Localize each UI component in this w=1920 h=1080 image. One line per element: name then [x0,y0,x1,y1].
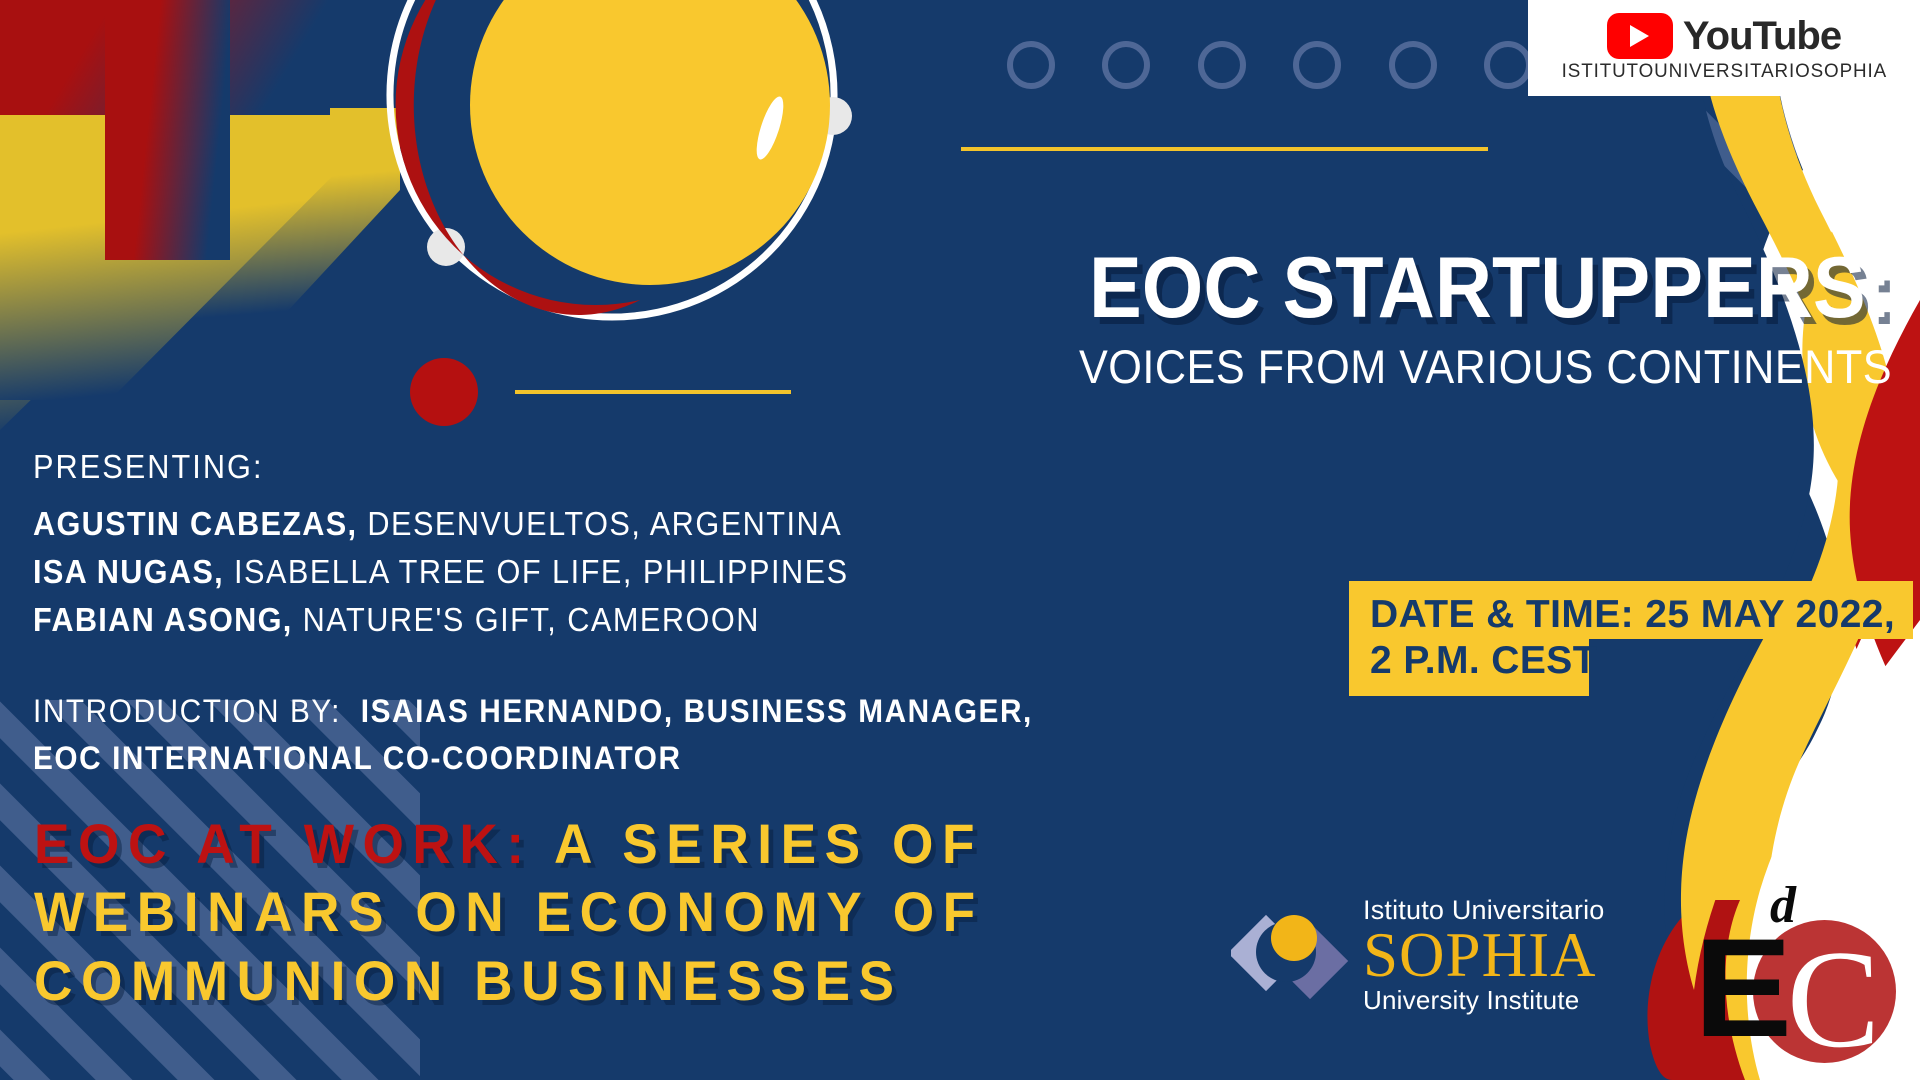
page-title: EOC STARTUPPERS: [917,246,1892,330]
sophia-bottom-text: University Institute [1363,987,1604,1013]
series-line-1-rest: A SERIES OF [554,812,983,875]
speaker-name: AGUSTIN CABEZAS, [33,505,357,542]
date-badge-line-2: 2 P.M. CEST [1349,639,1589,696]
speaker-row: FABIAN ASONG, NATURE'S GIFT, CAMEROON [33,596,1103,644]
edc-letter-c: C [1762,928,1905,1071]
speaker-detail: DESENVUELTOS, ARGENTINA [367,505,842,542]
date-badge-line-1: DATE & TIME: 25 MAY 2022, [1349,581,1913,639]
page-subtitle: VOICES FROM VARIOUS CONTINENTS [917,342,1892,391]
speaker-name: ISA NUGAS, [33,553,224,590]
series-line-3: COMMUNION BUSINESSES [34,947,1127,1015]
youtube-logo-row: YouTube [1607,13,1841,59]
youtube-play-icon [1607,13,1673,59]
youtube-channel-name: ISTITUTOUNIVERSITARIOSOPHIA [1561,61,1886,83]
introduction-line-1: INTRODUCTION BY: ISAIAS HERNANDO, BUSINE… [33,688,1261,735]
decor-red-dot [410,358,478,426]
presenting-block: PRESENTING: AGUSTIN CABEZAS, DESENVUELTO… [33,448,1183,644]
series-line-1: EOC AT WORK: A SERIES OF [34,810,1127,878]
speaker-row: ISA NUGAS, ISABELLA TREE OF LIFE, PHILIP… [33,548,1103,596]
introduction-line-2: EOC INTERNATIONAL CO-COORDINATOR [33,735,1261,782]
introduction-role: EOC INTERNATIONAL CO-COORDINATOR [33,740,682,776]
webinar-poster: YouTube ISTITUTOUNIVERSITARIOSOPHIA EOC … [0,0,1920,1080]
presenting-label: PRESENTING: [33,448,1103,486]
speaker-row: AGUSTIN CABEZAS, DESENVUELTOS, ARGENTINA [33,500,1103,548]
edc-logo: E d C [1694,876,1909,1061]
speaker-detail: NATURE'S GIFT, CAMEROON [303,601,760,638]
decor-yellow-rule-top [961,147,1488,151]
sophia-wordmark: Istituto Universitario SOPHIA University… [1363,897,1604,1013]
date-time-badge: DATE & TIME: 25 MAY 2022, 2 P.M. CEST [1349,581,1913,696]
series-line-2: WEBINARS ON ECONOMY OF [34,878,1127,946]
series-heading: EOC AT WORK: A SERIES OF WEBINARS ON ECO… [34,810,1184,1015]
speaker-detail: ISABELLA TREE OF LIFE, PHILIPPINES [234,553,849,590]
series-highlight: EOC AT WORK: [34,812,533,875]
title-block: EOC STARTUPPERS: VOICES FROM VARIOUS CON… [832,246,1892,392]
sophia-mark-icon [1231,896,1349,1014]
speaker-name: FABIAN ASONG, [33,601,293,638]
decor-yellow-rule-mid [515,390,791,394]
youtube-badge[interactable]: YouTube ISTITUTOUNIVERSITARIOSOPHIA [1528,0,1920,96]
sophia-logo: Istituto Universitario SOPHIA University… [1231,896,1604,1014]
sophia-name: SOPHIA [1363,926,1604,986]
introduction-block: INTRODUCTION BY: ISAIAS HERNANDO, BUSINE… [33,688,1353,783]
introduction-label: INTRODUCTION BY: [33,693,341,729]
introduction-person: ISAIAS HERNANDO, BUSINESS MANAGER, [361,693,1033,729]
youtube-wordmark: YouTube [1683,14,1841,59]
